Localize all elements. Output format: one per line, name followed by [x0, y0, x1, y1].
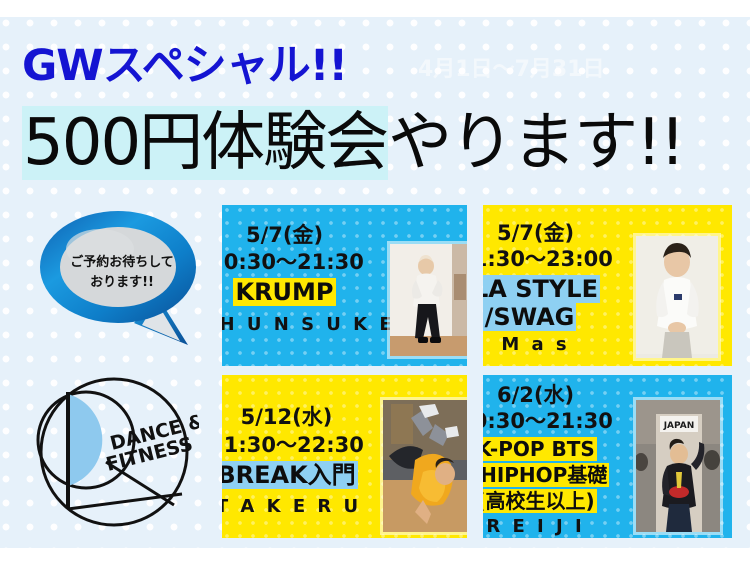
gw-special-headline: GWスペシャル!! [22, 38, 442, 94]
top-white-band [0, 0, 750, 17]
photo-art: JAPAN [636, 400, 720, 532]
svg-text:JAPAN: JAPAN [663, 421, 695, 431]
bubble-text: ご予約お待ちして おります!! [52, 253, 192, 293]
kpop-instructor-photo: JAPAN [633, 397, 723, 535]
campaign-date-range: 4月1日～7月31日 [418, 55, 648, 85]
class-card-break[interactable]: 5/12(水) 21:30～22:30 BREAK入門 T A K E R U [222, 375, 467, 538]
photo-art [636, 236, 718, 358]
main-headline: 500円体験会やります!! [22, 104, 732, 182]
photo-art [383, 400, 467, 532]
dance-fitness-logo: DANCE & FITNESS [24, 372, 199, 534]
reservation-speech-bubble: ご予約お待ちして おります!! [38, 205, 203, 353]
bottom-white-band [0, 548, 750, 563]
break-dancer-photo [380, 397, 467, 535]
bubble-text-line2: おります!! [52, 273, 192, 293]
card-title-line2: & HIPHOP基礎 [483, 463, 656, 488]
bubble-text-line1: ご予約お待ちして [52, 253, 192, 273]
flyer-canvas: GWスペシャル!! 4月1日～7月31日 500円体験会やります!! [0, 0, 750, 563]
card-date: 5/7(金) [222, 223, 407, 248]
class-card-la-style[interactable]: 5/7(金) 21:30～23:00 LA STYLE /SWAG M a s [483, 205, 732, 366]
photo-art [390, 244, 467, 356]
krump-dancer-photo [387, 241, 467, 359]
class-card-kpop[interactable]: 6/2(水) 20:30～21:30 K-POP BTS & HIPHOP基礎 … [483, 375, 732, 538]
main-headline-plain: やります!! [388, 106, 683, 180]
card-title-line2: /SWAG [483, 303, 654, 331]
card-time: 20:30～21:30 [222, 250, 409, 275]
logo-icon: DANCE & FITNESS [24, 372, 199, 534]
main-headline-highlight: 500円体験会 [22, 106, 388, 180]
class-card-krump[interactable]: 5/7(金) 20:30～21:30 KRUMP S H U N S U K E [222, 205, 467, 366]
card-title: KRUMP [222, 278, 407, 306]
la-style-instructor-photo [633, 233, 721, 361]
